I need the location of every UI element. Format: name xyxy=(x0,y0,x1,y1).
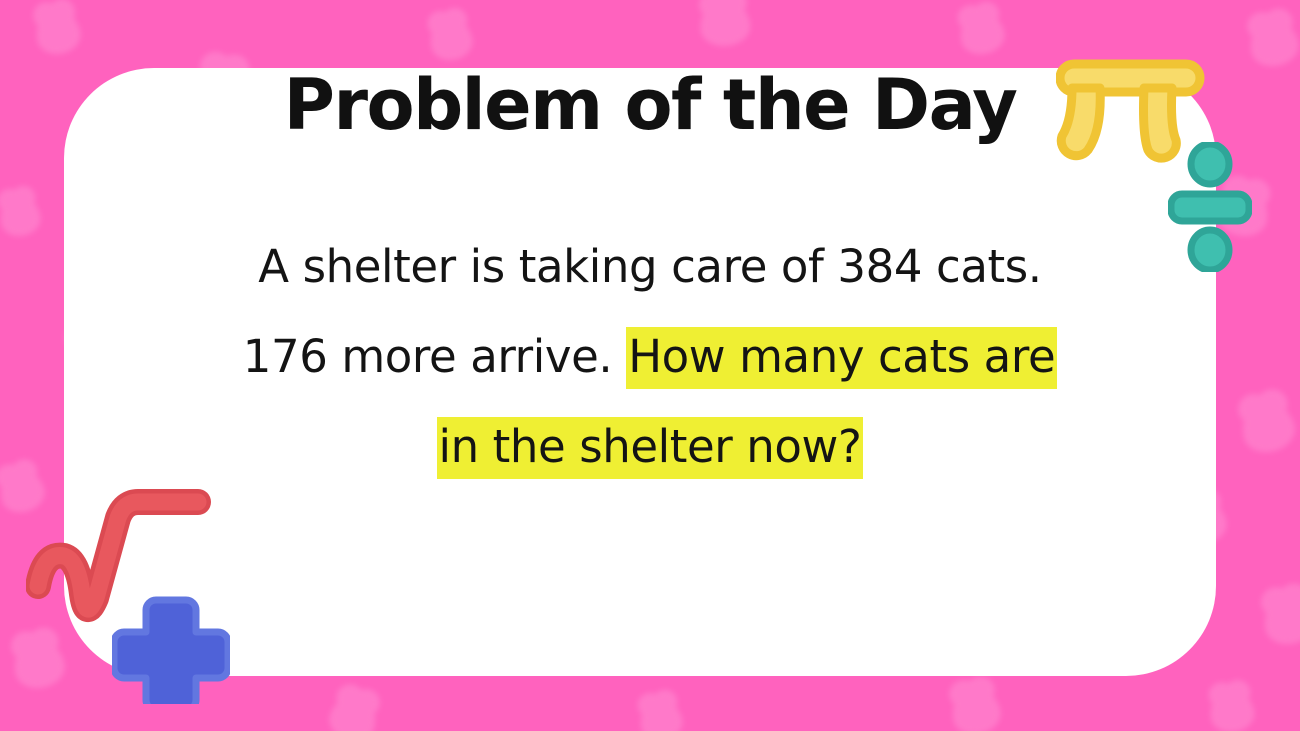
problem-statement: A shelter is taking care of 384 cats. 17… xyxy=(150,222,1150,492)
problem-line-1: A shelter is taking care of 384 cats. xyxy=(150,222,1150,312)
page-title: Problem of the Day xyxy=(284,70,1017,140)
problem-line-2-plain: 176 more arrive. xyxy=(243,330,626,383)
problem-line-3-highlight: in the shelter now? xyxy=(437,417,864,479)
card-content: Problem of the Day A shelter is taking c… xyxy=(0,0,1300,731)
problem-line-2: 176 more arrive. How many cats are xyxy=(150,312,1150,402)
problem-line-2-highlight: How many cats are xyxy=(626,327,1057,389)
problem-line-3: in the shelter now? xyxy=(150,402,1150,492)
slide-canvas: Problem of the Day A shelter is taking c… xyxy=(0,0,1300,731)
